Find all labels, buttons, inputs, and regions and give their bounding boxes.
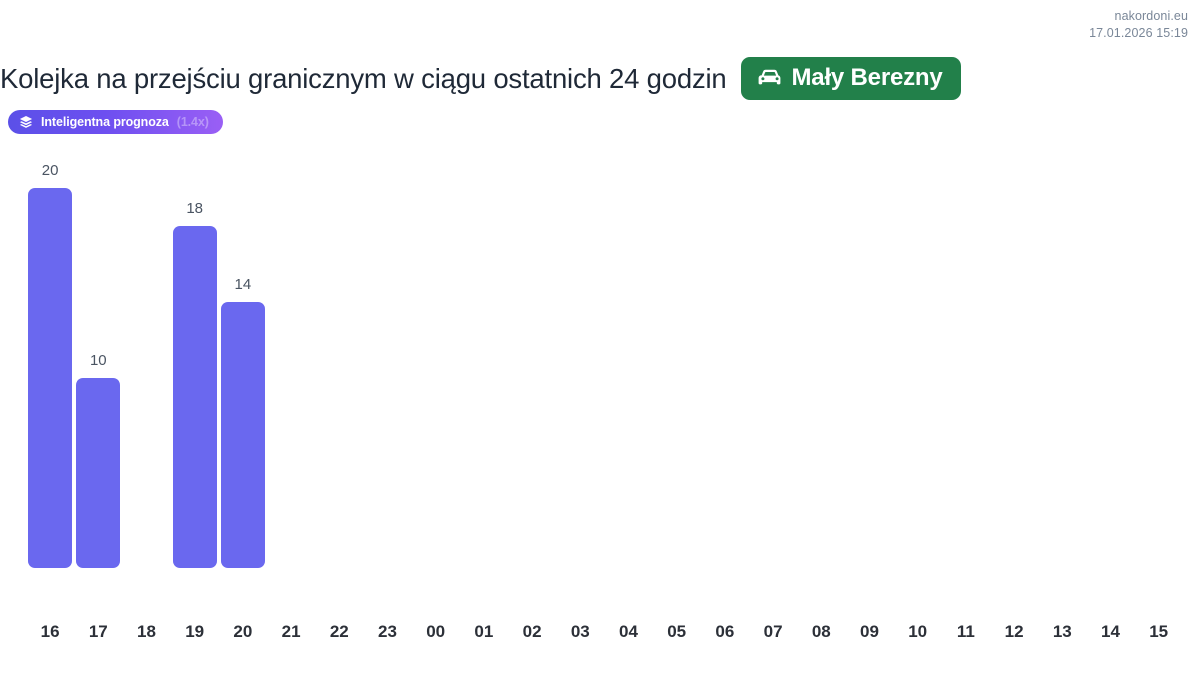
bar-value-label: 18 bbox=[186, 201, 203, 216]
bar-value-label: 14 bbox=[235, 277, 252, 292]
page-meta: nakordoni.eu 17.01.2026 15:19 bbox=[1089, 8, 1188, 41]
x-axis-tick: 07 bbox=[764, 623, 783, 640]
bar-slot bbox=[845, 150, 893, 568]
x-axis-tick: 22 bbox=[330, 623, 349, 640]
x-axis-tick: 16 bbox=[41, 623, 60, 640]
bar-slot bbox=[1135, 150, 1183, 568]
x-axis-tick: 02 bbox=[523, 623, 542, 640]
bar-slot bbox=[315, 150, 363, 568]
bar-slot bbox=[797, 150, 845, 568]
x-axis-tick: 21 bbox=[282, 623, 301, 640]
layers-icon bbox=[19, 115, 33, 129]
bar-value-label: 10 bbox=[90, 353, 107, 368]
x-axis-tick: 05 bbox=[667, 623, 686, 640]
station-badge-label: Mały Berezny bbox=[792, 66, 943, 90]
bar-slot bbox=[1086, 150, 1134, 568]
chart-bar[interactable] bbox=[76, 378, 120, 568]
x-axis-tick: 12 bbox=[1005, 623, 1024, 640]
bar-slot bbox=[122, 150, 170, 568]
car-icon bbox=[757, 68, 783, 88]
x-axis-tick: 11 bbox=[957, 623, 975, 640]
title-row: Kolejka na przejściu granicznym w ciągu … bbox=[0, 57, 1160, 100]
x-axis-tick: 17 bbox=[89, 623, 108, 640]
x-axis-tick: 13 bbox=[1053, 623, 1072, 640]
forecast-pill-multiplier: (1.4x) bbox=[177, 115, 209, 129]
site-name: nakordoni.eu bbox=[1089, 8, 1188, 25]
x-axis-tick: 20 bbox=[233, 623, 252, 640]
x-axis-tick: 19 bbox=[185, 623, 204, 640]
forecast-pill[interactable]: Inteligentna prognoza (1.4x) bbox=[8, 110, 223, 134]
x-axis-tick: 09 bbox=[860, 623, 879, 640]
x-axis-tick: 14 bbox=[1101, 623, 1120, 640]
bar-slot bbox=[363, 150, 411, 568]
bar-slot bbox=[653, 150, 701, 568]
bar-slot bbox=[460, 150, 508, 568]
station-badge[interactable]: Mały Berezny bbox=[741, 57, 961, 100]
bar-slot bbox=[267, 150, 315, 568]
x-axis-tick: 18 bbox=[137, 623, 156, 640]
x-axis-tick: 15 bbox=[1149, 623, 1168, 640]
bar-slot bbox=[701, 150, 749, 568]
bar-slot bbox=[1038, 150, 1086, 568]
bar-value-label: 20 bbox=[42, 163, 59, 178]
screenshot-root: nakordoni.eu 17.01.2026 15:19 Kolejka na… bbox=[0, 0, 1200, 684]
bar-slot bbox=[894, 150, 942, 568]
bar-slot bbox=[604, 150, 652, 568]
x-axis-tick: 10 bbox=[908, 623, 927, 640]
chart-x-axis: 1617181920212223000102030405060708091011… bbox=[0, 568, 1200, 628]
bar-slot bbox=[990, 150, 1038, 568]
timestamp: 17.01.2026 15:19 bbox=[1089, 25, 1188, 42]
x-axis-tick: 01 bbox=[474, 623, 493, 640]
chart-bar[interactable] bbox=[221, 302, 265, 568]
queue-bar-chart: 20101814 1617181920212223000102030405060… bbox=[0, 150, 1200, 650]
chart-plot-area: 20101814 bbox=[0, 150, 1200, 568]
x-axis-tick: 03 bbox=[571, 623, 590, 640]
x-axis-tick: 00 bbox=[426, 623, 445, 640]
chart-bar[interactable] bbox=[173, 226, 217, 568]
bar-slot bbox=[508, 150, 556, 568]
x-axis-tick: 08 bbox=[812, 623, 831, 640]
bar-slot bbox=[556, 150, 604, 568]
x-axis-tick: 23 bbox=[378, 623, 397, 640]
page-title: Kolejka na przejściu granicznym w ciągu … bbox=[0, 62, 727, 95]
chart-bar[interactable] bbox=[28, 188, 72, 568]
bar-slot: 14 bbox=[219, 150, 267, 568]
bar-slot bbox=[412, 150, 460, 568]
x-axis-tick: 04 bbox=[619, 623, 638, 640]
bar-slot bbox=[749, 150, 797, 568]
bar-slot: 20 bbox=[26, 150, 74, 568]
bar-slot: 10 bbox=[74, 150, 122, 568]
x-axis-tick: 06 bbox=[715, 623, 734, 640]
forecast-pill-label: Inteligentna prognoza bbox=[41, 115, 169, 129]
bar-slot: 18 bbox=[171, 150, 219, 568]
bar-slot bbox=[942, 150, 990, 568]
